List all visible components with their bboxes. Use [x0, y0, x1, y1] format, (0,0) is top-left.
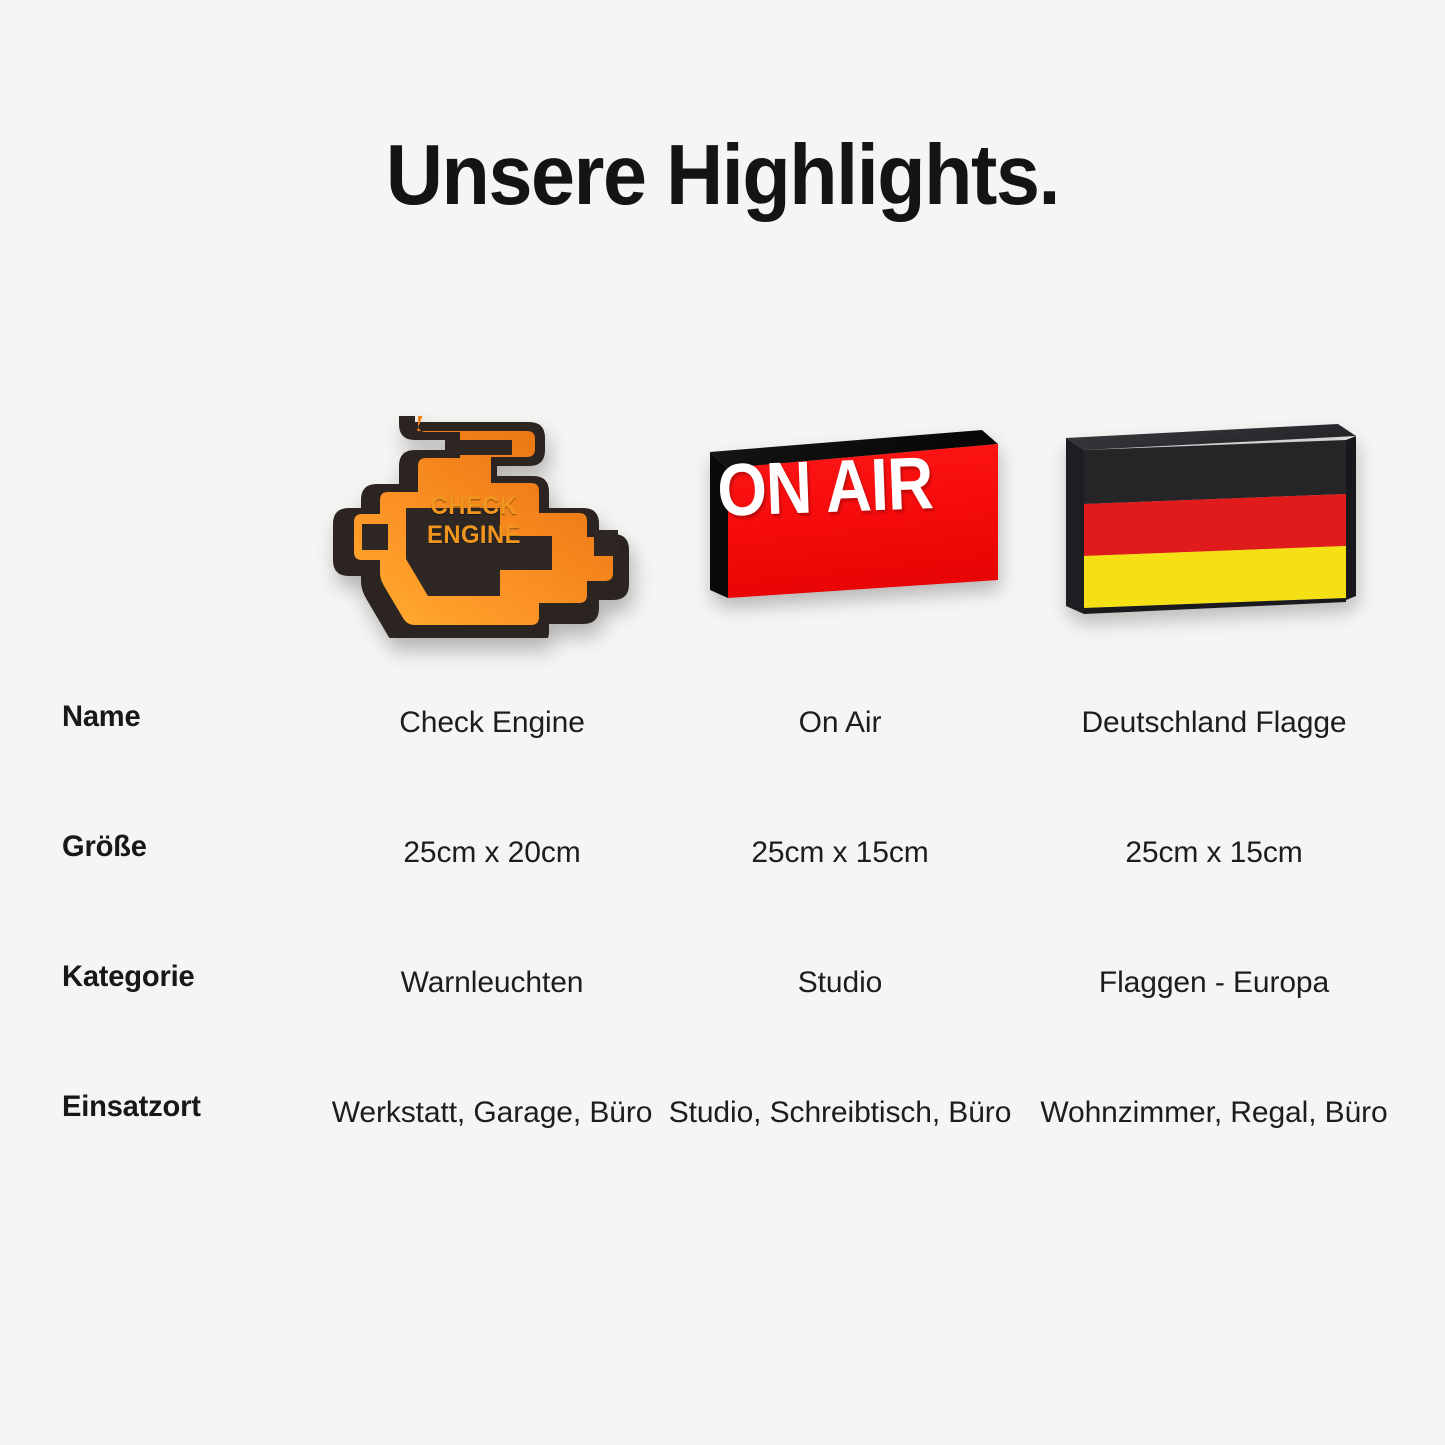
product-image-row: CHECKENGINE [0, 400, 1445, 675]
germany-flag-lightbox-icon [1050, 418, 1366, 632]
row-label-groesse: Größe [62, 830, 147, 864]
cell-einsatzort-check-engine: Werkstatt, Garage, Büro [318, 1090, 666, 1137]
table-row: Einsatzort Werkstatt, Garage, Büro Studi… [0, 1090, 1445, 1240]
product-image-deutschland-flagge[interactable] [1014, 400, 1414, 675]
check-engine-line-1: CHECK [431, 492, 518, 520]
cell-groesse-check-engine: 25cm x 20cm [318, 830, 666, 877]
cell-einsatzort-deutschland-flagge: Wohnzimmer, Regal, Büro [1014, 1090, 1414, 1137]
on-air-sign-text: ON AIR [708, 446, 943, 528]
cell-name-on-air: On Air [666, 700, 1014, 747]
cell-groesse-on-air: 25cm x 15cm [666, 830, 1014, 877]
cell-name-deutschland-flagge: Deutschland Flagge [1014, 700, 1414, 747]
cell-kategorie-on-air: Studio [666, 960, 1014, 1007]
table-row: Größe 25cm x 20cm 25cm x 15cm 25cm x 15c… [0, 830, 1445, 960]
cell-einsatzort-on-air: Studio, Schreibtisch, Büro [666, 1090, 1014, 1137]
row-label-name: Name [62, 700, 140, 734]
cell-kategorie-deutschland-flagge: Flaggen - Europa [1014, 960, 1414, 1007]
page-title: Unsere Highlights. [51, 133, 1395, 218]
row-label-kategorie: Kategorie [62, 960, 194, 994]
table-row: Name Check Engine On Air Deutschland Fla… [0, 700, 1445, 830]
highlights-page: Unsere Highlights. [0, 0, 1445, 1445]
table-row: Kategorie Warnleuchten Studio Flaggen - … [0, 960, 1445, 1090]
check-engine-sign-text: CHECKENGINE [408, 492, 541, 550]
row-label-einsatzort: Einsatzort [62, 1090, 201, 1124]
spec-table: Name Check Engine On Air Deutschland Fla… [0, 700, 1445, 1240]
cell-name-check-engine: Check Engine [318, 700, 666, 747]
cell-kategorie-check-engine: Warnleuchten [318, 960, 666, 1007]
product-image-on-air[interactable]: ON AIR [666, 400, 1014, 675]
check-engine-line-2: ENGINE [427, 521, 521, 549]
cell-groesse-deutschland-flagge: 25cm x 15cm [1014, 830, 1414, 877]
product-image-check-engine[interactable]: CHECKENGINE [318, 400, 666, 675]
